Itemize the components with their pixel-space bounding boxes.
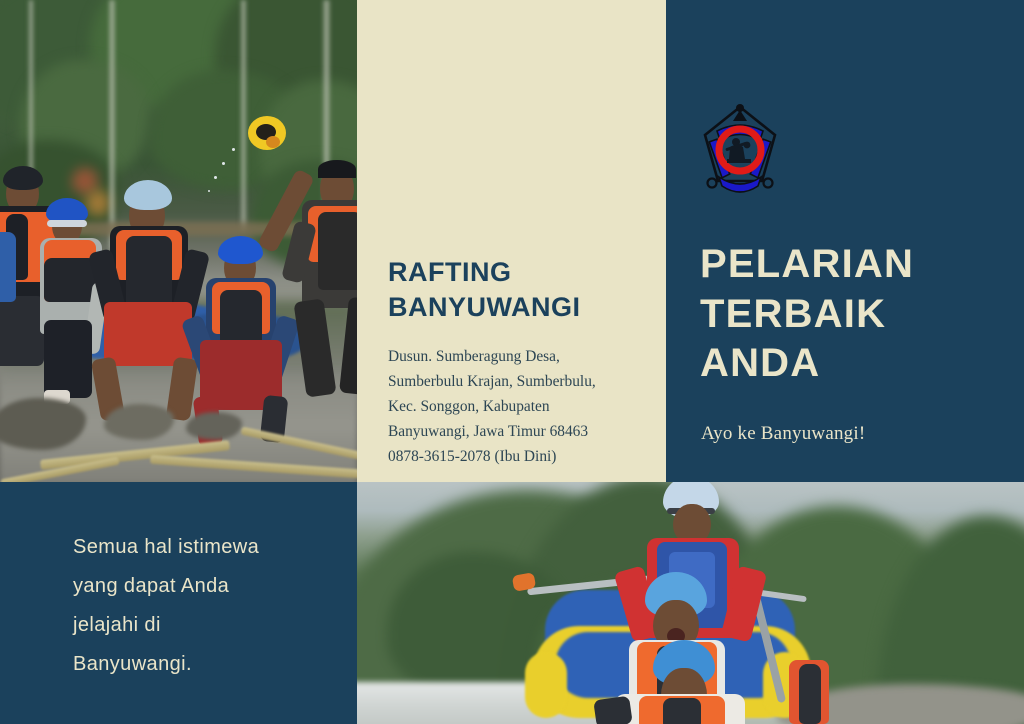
main-headline: PELARIAN TERBAIK ANDA bbox=[700, 240, 1020, 389]
tree-trunk bbox=[240, 0, 247, 230]
rafting-group-on-riverbank-photo bbox=[0, 0, 357, 482]
address-text: Dusun. Sumberagung Desa, Sumberbulu Kraj… bbox=[388, 345, 640, 470]
bottom-caption-text: Semua hal istimewa yang dapat Anda jelaj… bbox=[73, 528, 343, 684]
raft-yellow-tube bbox=[525, 652, 567, 718]
brochure-canvas: RAFTING BANYUWANGI Dusun. Sumberagung De… bbox=[0, 0, 1024, 724]
tagline-text: Ayo ke Banyuwangi! bbox=[701, 423, 865, 445]
page-title: RAFTING BANYUWANGI bbox=[388, 255, 658, 324]
distant-gear-blur bbox=[86, 190, 110, 216]
rafting-club-emblem-logo bbox=[697, 101, 783, 197]
tree-trunk bbox=[108, 0, 116, 250]
rafting-boat-rapids-photo bbox=[357, 482, 1024, 724]
